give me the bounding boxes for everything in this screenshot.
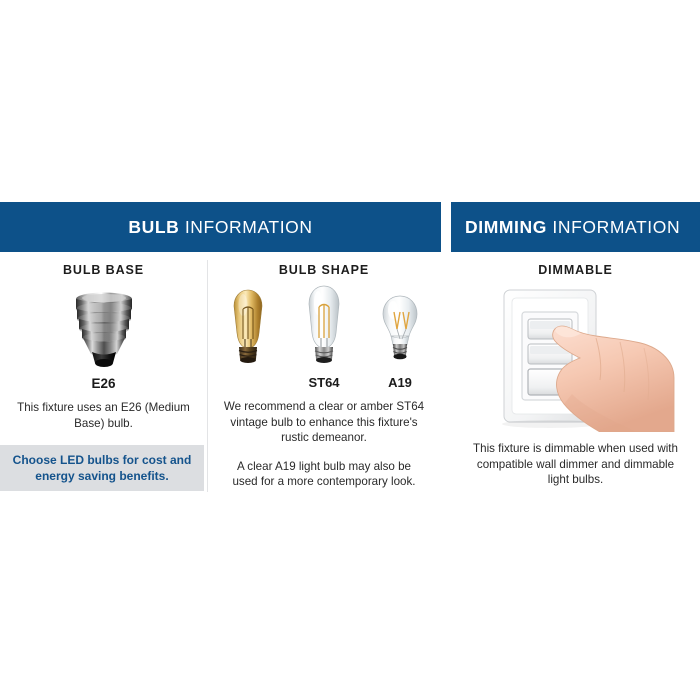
e26-base-image-wrap (0, 286, 207, 368)
e26-label: E26 (0, 376, 207, 391)
dimming-description: This fixture is dimmable when used with … (451, 441, 700, 488)
led-callout-text: Choose LED bulbs for cost and energy sav… (0, 452, 204, 484)
bulb-base-description: This fixture uses an E26 (Medium Base) b… (0, 400, 207, 431)
bulb-shape-image-row (207, 283, 441, 369)
dimmer-switch-image-wrap (451, 281, 700, 433)
bulb-shape-paragraph-1: We recommend a clear or amber ST64 vinta… (207, 399, 441, 446)
clear-st64-cell (293, 283, 355, 369)
amber-st64-bulb-icon (225, 287, 271, 369)
bulb-information-panel: BULB INFORMATION BULB BASE (0, 202, 441, 500)
dimming-information-header: DIMMING INFORMATION (451, 202, 700, 252)
bulb-shape-label-row: ST64 A19 (207, 375, 441, 390)
bulb-information-title: BULB INFORMATION (128, 217, 312, 238)
bulb-shape-paragraph-2: A clear A19 light bulb may also be used … (207, 459, 441, 490)
bulb-base-column: BULB BASE (0, 252, 207, 500)
bulb-information-header: BULB INFORMATION (0, 202, 441, 252)
bulb-shape-column: BULB SHAPE (207, 252, 441, 500)
dimming-title-rest: INFORMATION (547, 217, 680, 237)
dimming-information-panel: DIMMING INFORMATION DIMMABLE (451, 202, 700, 500)
a19-label: A19 (369, 375, 431, 390)
amber-st64-cell (217, 287, 279, 369)
bulb-title-rest: INFORMATION (179, 217, 312, 237)
bulb-title-strong: BULB (128, 217, 179, 237)
clear-a19-bulb-icon (378, 293, 422, 369)
clear-a19-cell (369, 293, 431, 369)
dimming-information-title: DIMMING INFORMATION (465, 217, 680, 238)
page-root: BULB INFORMATION BULB BASE (0, 0, 700, 700)
st64-label: ST64 (293, 375, 355, 390)
clear-st64-bulb-icon (300, 283, 348, 369)
amber-st64-label (217, 375, 279, 390)
bulb-panel-body: BULB BASE (0, 252, 441, 500)
hand-pressing-dimmer-switch-icon (476, 282, 676, 432)
bulb-shape-title: BULB SHAPE (207, 252, 441, 277)
bulb-base-title: BULB BASE (0, 252, 207, 277)
dimming-panel-body: DIMMABLE (451, 252, 700, 500)
dimmable-title: DIMMABLE (451, 252, 700, 277)
e26-bulb-base-icon (67, 290, 141, 368)
led-callout-box: Choose LED bulbs for cost and energy sav… (0, 445, 204, 491)
dimming-title-strong: DIMMING (465, 217, 547, 237)
